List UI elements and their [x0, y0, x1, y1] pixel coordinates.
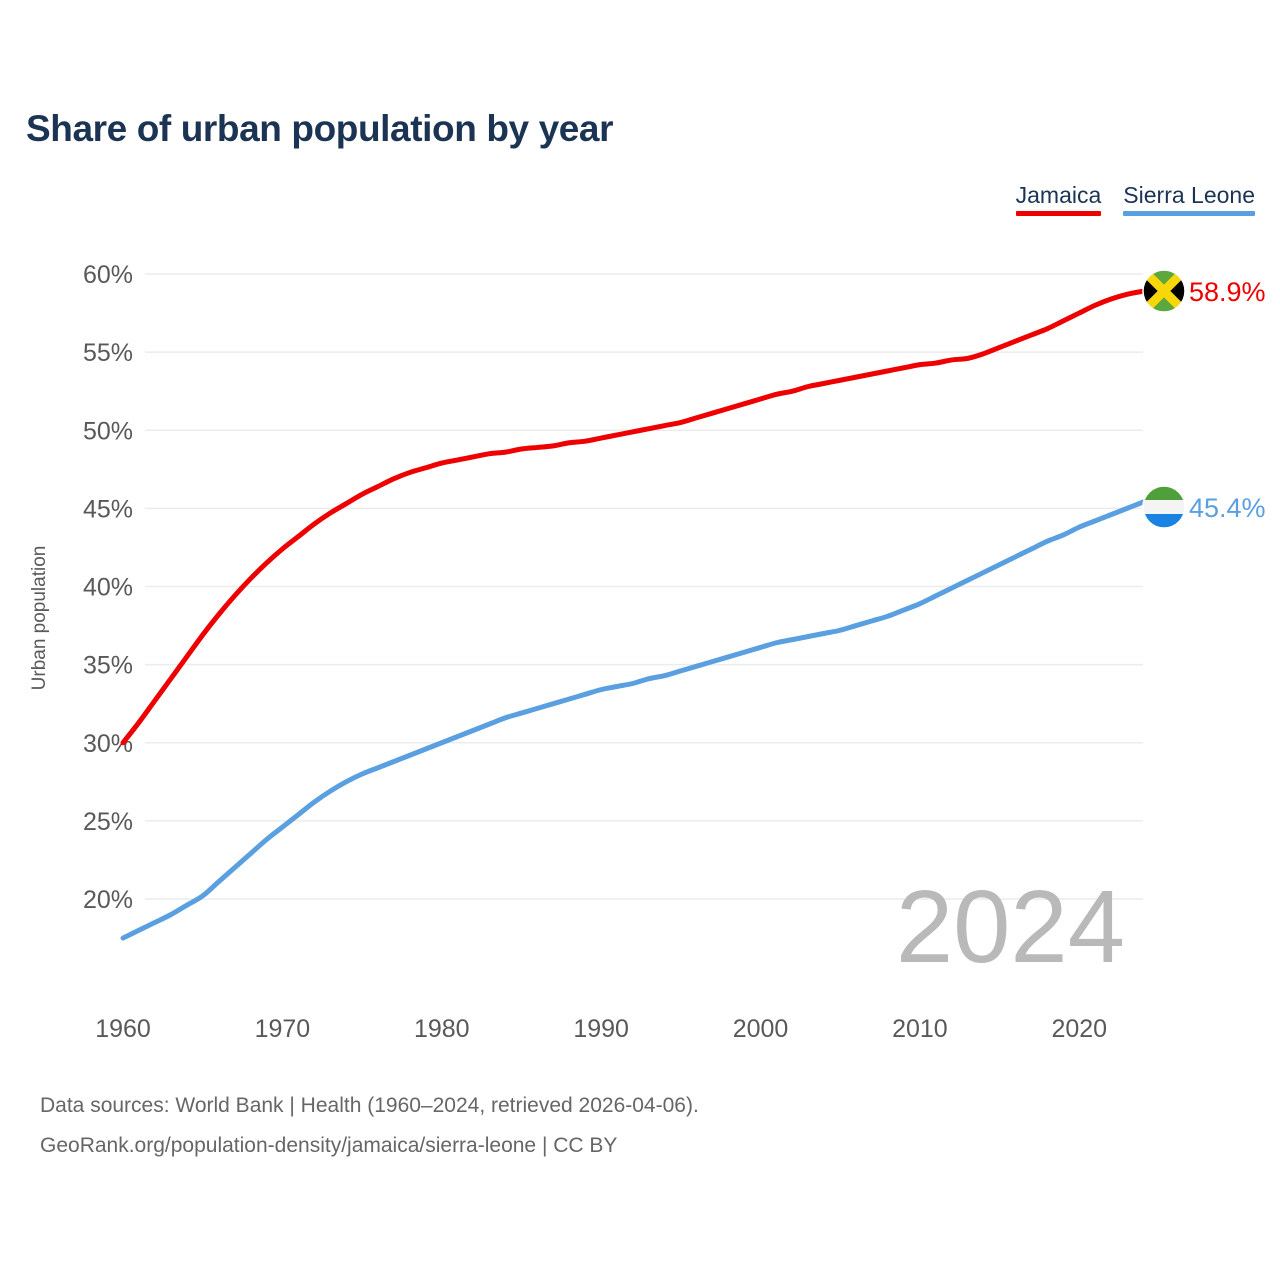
- year-watermark: 2024: [896, 869, 1125, 984]
- footer-line-attribution: GeoRank.org/population-density/jamaica/s…: [40, 1126, 699, 1166]
- sierra-leone-flag-icon: [1143, 486, 1185, 528]
- x-tick-label: 2010: [892, 1015, 948, 1043]
- y-tick-label: 35%: [83, 652, 133, 680]
- chart-page: Share of urban population by year Jamaic…: [0, 0, 1280, 1280]
- y-tick-label: 50%: [83, 417, 133, 445]
- jamaica-flag-icon: [1143, 270, 1185, 312]
- x-axis-tick-labels: 1960197019801990200020102020: [95, 1015, 1107, 1043]
- x-tick-label: 1960: [95, 1015, 151, 1043]
- x-tick-label: 1990: [573, 1015, 629, 1043]
- y-tick-label: 20%: [83, 886, 133, 914]
- footer-line-sources: Data sources: World Bank | Health (1960–…: [40, 1086, 699, 1126]
- y-tick-label: 40%: [83, 574, 133, 602]
- gridlines: [145, 274, 1143, 899]
- y-axis-label: Urban population: [29, 546, 50, 691]
- y-tick-label: 30%: [83, 730, 133, 758]
- y-tick-label: 60%: [83, 261, 133, 289]
- x-tick-label: 1980: [414, 1015, 470, 1043]
- y-axis-tick-labels: 20%25%30%35%40%45%50%55%60%: [83, 261, 133, 914]
- endpoint-value-sierra-leone: 45.4%: [1189, 493, 1266, 523]
- series-line-jamaica: [123, 291, 1143, 743]
- endpoint-value-jamaica: 58.9%: [1189, 277, 1266, 307]
- y-tick-label: 25%: [83, 808, 133, 836]
- footer: Data sources: World Bank | Health (1960–…: [40, 1086, 699, 1166]
- x-tick-label: 1970: [255, 1015, 311, 1043]
- y-tick-label: 55%: [83, 339, 133, 367]
- x-tick-label: 2020: [1051, 1015, 1107, 1043]
- y-tick-label: 45%: [83, 495, 133, 523]
- x-tick-label: 2000: [733, 1015, 789, 1043]
